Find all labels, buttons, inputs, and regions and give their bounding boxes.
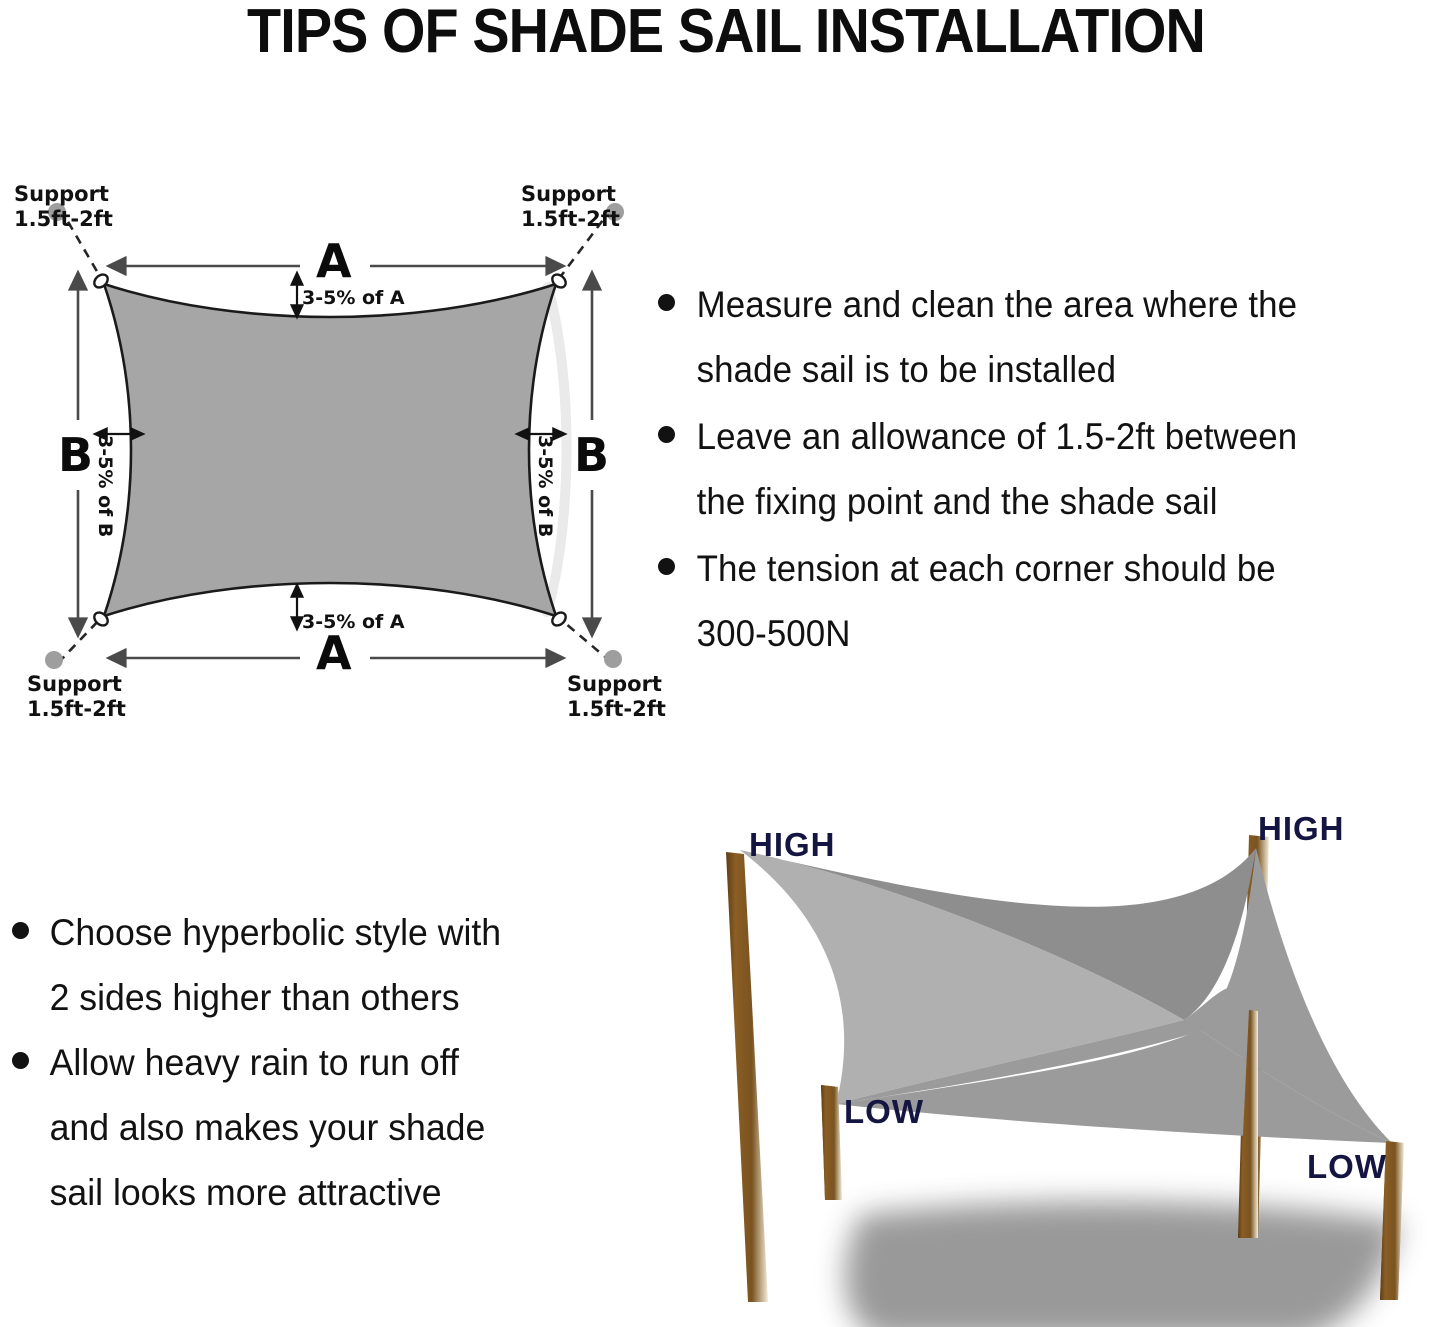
installation-tips-list-bottom: Choose hyperbolic style with 2 sides hig… (4, 900, 629, 1225)
list-item-label: Choose hyperbolic style with 2 sides hig… (4, 900, 598, 1030)
sail-canopy-mid (836, 986, 1256, 1104)
label-high-right: HIGH (1258, 810, 1345, 848)
list-item-label: The tension at each corner should be 300… (652, 536, 1396, 666)
guy-line-bottom-right (558, 617, 611, 662)
support-dot-bottom-left (45, 651, 63, 669)
curve-label-bottom: 3-5% of A (302, 611, 405, 633)
support-label-bottom-left: Support 1.5ft-2ft (27, 672, 126, 722)
curve-label-left: 3-5% of B (94, 435, 116, 537)
label-low-right: LOW (1307, 1148, 1387, 1186)
list-item-label: Allow heavy rain to run off and also mak… (4, 1030, 598, 1225)
support-label-bottom-left-line1: Support (27, 672, 126, 697)
label-high-left: HIGH (749, 826, 836, 864)
list-item: Choose hyperbolic style with 2 sides hig… (4, 900, 629, 1030)
list-item: The tension at each corner should be 300… (652, 536, 1452, 666)
dimension-letter-A-bottom: A (316, 626, 352, 680)
dimension-letter-A-top: A (316, 234, 352, 288)
list-item: Leave an allowance of 1.5-2ft between th… (652, 404, 1452, 534)
support-label-bottom-right-line1: Support (567, 672, 666, 697)
pole-high-right (1238, 835, 1269, 1238)
support-label-bottom-right-line2: 1.5ft-2ft (567, 697, 666, 722)
support-dot-bottom-right (604, 650, 622, 668)
support-label-top-right: Support 1.5ft-2ft (521, 182, 620, 232)
curve-label-right: 3-5% of B (534, 435, 556, 537)
list-item: Allow heavy rain to run off and also mak… (4, 1030, 629, 1225)
support-label-top-right-line1: Support (521, 182, 620, 207)
support-label-bottom-right: Support 1.5ft-2ft (567, 672, 666, 722)
pole-high-left (726, 852, 768, 1302)
sail-canopy-right-wing (1200, 848, 1392, 1143)
support-label-bottom-left-line2: 1.5ft-2ft (27, 697, 126, 722)
sail-canopy-back (740, 848, 1256, 1020)
pole-low-left-front (821, 1085, 842, 1200)
pole-high-right-front (1238, 1010, 1258, 1238)
sail-body (104, 284, 556, 616)
guy-line-bottom-left (58, 617, 102, 663)
dimension-letter-B-left: B (58, 428, 93, 482)
support-label-top-left: Support 1.5ft-2ft (14, 182, 113, 232)
support-label-top-left-line1: Support (14, 182, 113, 207)
pole-low-left (821, 1085, 842, 1200)
installation-tips-list-right: Measure and clean the area where the sha… (652, 272, 1452, 668)
support-label-top-left-line2: 1.5ft-2ft (14, 207, 113, 232)
support-label-top-right-line2: 1.5ft-2ft (521, 207, 620, 232)
list-item-label: Measure and clean the area where the sha… (652, 272, 1396, 402)
list-item-label: Leave an allowance of 1.5-2ft between th… (652, 404, 1396, 534)
infographic-page: TIPS OF SHADE SAIL INSTALLATION (0, 0, 1452, 1327)
sail-canopy-front-left (740, 850, 1184, 1104)
dimension-letter-B-right: B (574, 428, 609, 482)
label-low-left: LOW (844, 1093, 924, 1131)
list-item: Measure and clean the area where the sha… (652, 272, 1452, 402)
curve-label-top: 3-5% of A (302, 287, 405, 309)
ground-shadow (845, 1202, 1400, 1327)
